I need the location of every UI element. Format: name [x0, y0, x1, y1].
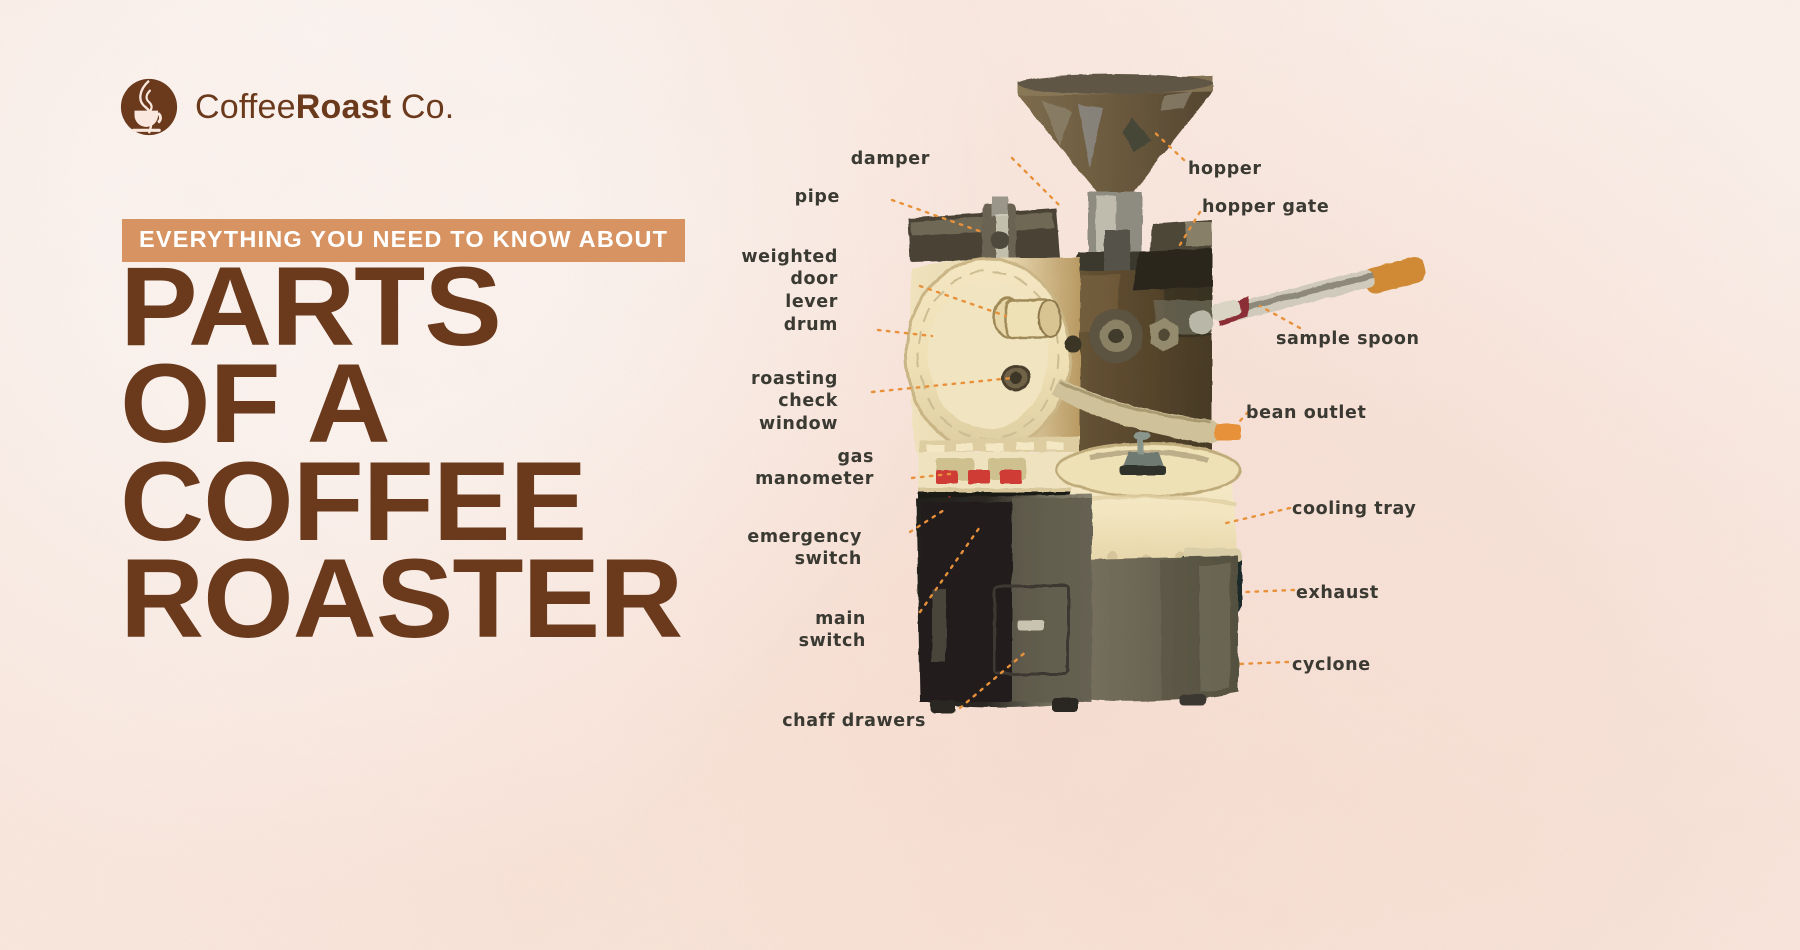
callout-roasting-check-window: roasting check window: [751, 368, 838, 435]
hopper-part: [1018, 74, 1212, 196]
callout-bean-outlet: bean outlet: [1246, 402, 1366, 424]
brand-name: CoffeeRoast Co.: [195, 88, 454, 127]
callout-hopper-gate: hopper gate: [1202, 196, 1329, 218]
brand-name-suffix: Co.: [391, 88, 454, 126]
illustration-column: damper pipe weighted door lever drum roa…: [760, 0, 1800, 950]
callout-main-switch: main switch: [760, 608, 866, 653]
page-title: PARTS OF A COFFEE ROASTER: [120, 258, 765, 648]
headline-line-4: ROASTER: [120, 550, 765, 647]
callout-cyclone: cyclone: [1292, 654, 1371, 676]
callout-gas-manometer: gas manometer: [755, 446, 874, 491]
callout-sample-spoon: sample spoon: [1276, 328, 1420, 350]
roaster-artwork: [760, 0, 1800, 950]
callout-cooling-tray: cooling tray: [1292, 498, 1416, 520]
callout-exhaust: exhaust: [1296, 582, 1379, 604]
left-content-column: CoffeeRoast Co. EVERYTHING YOU NEED TO K…: [0, 0, 760, 950]
drum-part: [906, 258, 1080, 452]
callout-emergency-switch: emergency switch: [747, 526, 862, 571]
brand-name-bold: Roast: [296, 88, 391, 126]
coffee-roaster-illustration: damper pipe weighted door lever drum roa…: [760, 0, 1800, 950]
coffee-bean-cup-icon: [120, 78, 178, 136]
sample-spoon-part: [1210, 255, 1428, 326]
callout-chaff-drawers: chaff drawers: [782, 710, 926, 732]
right-arm-part: [1150, 220, 1212, 252]
brand-logo[interactable]: CoffeeRoast Co.: [120, 78, 454, 136]
callout-drum: drum: [784, 314, 838, 336]
callout-weighted-door-lever: weighted door lever: [741, 246, 838, 313]
callout-damper: damper: [851, 148, 930, 170]
callout-pipe: pipe: [795, 186, 840, 208]
callout-hopper: hopper: [1188, 158, 1262, 180]
weighted-door-lever-knob: [994, 298, 1061, 338]
brand-name-light: Coffee: [195, 88, 296, 126]
gas-manometer-gauges: [936, 470, 1022, 484]
